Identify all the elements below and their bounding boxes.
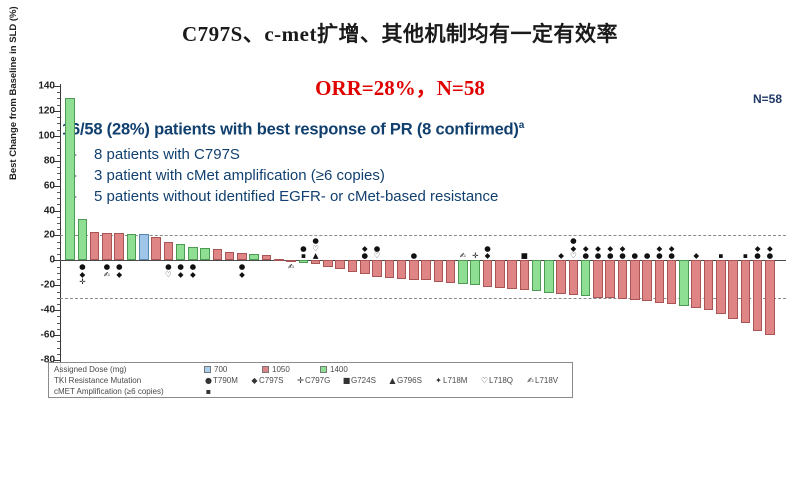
y-minor-tick (57, 242, 61, 243)
waterfall-bar (188, 247, 198, 261)
waterfall-bar (225, 252, 235, 261)
waterfall-bar (213, 249, 223, 260)
reference-line (60, 235, 786, 236)
slide-canvas: C797S、c-met扩增、其他机制均有一定有效率 ORR=28%，N=58 N… (0, 0, 800, 482)
mutation-marker-icon: ♡ (374, 252, 381, 260)
legend-glyph-icon: ◆ (250, 376, 259, 385)
legend-row: TKI Resistance Mutation●T790M◆C797S✛C797… (54, 376, 568, 387)
waterfall-bar (470, 260, 480, 285)
waterfall-bar (102, 233, 112, 260)
waterfall-bar (78, 219, 88, 260)
legend-item: ✛C797G (296, 376, 330, 385)
waterfall-bar (544, 260, 554, 292)
waterfall-bar (90, 232, 100, 261)
mutation-marker-icon: ◆ (693, 252, 699, 260)
legend-item: 700 (204, 365, 227, 374)
y-minor-tick (57, 123, 61, 124)
legend-glyph-icon: ✦ (434, 376, 443, 385)
legend-item-label: 1050 (272, 365, 290, 374)
mutation-marker-icon: ♡ (570, 252, 577, 260)
waterfall-bar (741, 260, 751, 322)
mutation-marker-icon: ▪ (718, 252, 723, 260)
legend-row-label: TKI Resistance Mutation (54, 376, 141, 385)
y-tick-label: 60 (44, 180, 55, 191)
waterfall-bar (667, 260, 677, 304)
legend-item-label: L718M (443, 376, 467, 385)
legend-item-label: 700 (214, 365, 227, 374)
waterfall-bar (434, 260, 444, 281)
y-minor-tick (57, 155, 61, 156)
y-minor-tick (57, 217, 61, 218)
waterfall-bar (765, 260, 775, 335)
legend-item: ✍L718V (526, 376, 558, 385)
y-minor-tick (57, 173, 61, 174)
waterfall-bar (372, 260, 382, 276)
mutation-marker-icon: ✍ (288, 263, 294, 271)
y-minor-tick (57, 267, 61, 268)
waterfall-bar (249, 254, 259, 260)
waterfall-bar (753, 260, 763, 331)
waterfall-bar (360, 260, 370, 274)
mutation-marker-icon: ▪ (743, 252, 748, 260)
y-minor-tick (57, 354, 61, 355)
waterfall-bar (237, 253, 247, 260)
legend-item-label: 1400 (330, 365, 348, 374)
waterfall-bar (495, 260, 505, 287)
legend-row-label: Assigned Dose (mg) (54, 365, 126, 374)
mutation-marker-icon: ● (582, 252, 589, 260)
y-tick-label: 40 (44, 205, 55, 216)
mutation-marker-icon: ● (644, 252, 651, 260)
y-minor-tick (57, 248, 61, 249)
mutation-marker-icon: ● (484, 245, 491, 253)
waterfall-bar (421, 260, 431, 280)
y-minor-tick (57, 98, 61, 99)
mutation-marker-icon: ◆ (767, 245, 773, 253)
legend-row-label: cMET Amplification (≥6 copies) (54, 387, 164, 396)
y-minor-tick (57, 329, 61, 330)
legend-item-label: T790M (213, 376, 238, 385)
waterfall-bar (679, 260, 689, 306)
waterfall-bar (262, 255, 272, 260)
mutation-marker-icon: ● (668, 252, 675, 260)
mutation-marker-icon: ◆ (571, 245, 577, 253)
waterfall-bar (655, 260, 665, 302)
y-minor-tick (57, 229, 61, 230)
y-minor-tick (57, 167, 61, 168)
waterfall-bar (520, 260, 530, 290)
y-minor-tick (57, 198, 61, 199)
mutation-marker-icon: ✛ (79, 278, 85, 286)
waterfall-bar (630, 260, 640, 300)
y-tick-label: 100 (38, 130, 55, 141)
y-minor-tick (57, 130, 61, 131)
legend-glyph-icon: ■ (342, 376, 351, 385)
mutation-marker-icon: ● (595, 252, 602, 260)
y-minor-tick (57, 92, 61, 93)
mutation-marker-icon: ◆ (607, 245, 613, 253)
legend-item-label: C797S (259, 376, 283, 385)
legend-glyph-icon: ✍ (526, 376, 535, 385)
waterfall-bar (691, 260, 701, 307)
legend-glyph-icon: ▪ (204, 387, 213, 396)
y-minor-tick (57, 304, 61, 305)
chart-legend: Assigned Dose (mg)70010501400TKI Resista… (48, 362, 573, 398)
y-minor-tick (57, 323, 61, 324)
legend-item: ✦L718M (434, 376, 467, 385)
waterfall-bar (581, 260, 591, 296)
legend-item-label: G724S (351, 376, 376, 385)
legend-glyph-icon: ● (204, 376, 213, 385)
waterfall-bar (569, 260, 579, 295)
legend-item-label: L718V (535, 376, 558, 385)
y-minor-tick (57, 223, 61, 224)
waterfall-bar (446, 260, 456, 282)
waterfall-bar (704, 260, 714, 310)
waterfall-bar (556, 260, 566, 294)
waterfall-bar (139, 234, 149, 260)
mutation-marker-icon: ● (656, 252, 663, 260)
waterfall-bar (716, 260, 726, 314)
y-tick-label: 0 (49, 255, 55, 266)
mutation-marker-icon: ● (767, 252, 774, 260)
waterfall-bar (605, 260, 615, 297)
y-tick-label: 140 (38, 81, 55, 92)
mutation-marker-icon: ◆ (755, 245, 761, 253)
y-minor-tick (57, 105, 61, 106)
waterfall-bar (323, 260, 333, 266)
y-minor-tick (57, 142, 61, 143)
mutation-marker-icon: ■ (521, 252, 528, 260)
mutation-marker-icon: ◆ (362, 245, 368, 253)
mutation-marker-icon: ● (607, 252, 614, 260)
mutation-marker-icon: ◆ (669, 245, 675, 253)
mutation-marker-icon: ▲ (313, 252, 319, 260)
legend-row: Assigned Dose (mg)70010501400 (54, 365, 568, 376)
mutation-marker-icon: ● (632, 252, 639, 260)
legend-color-swatch (320, 366, 327, 373)
mutation-marker-icon: ▪ (301, 252, 306, 260)
waterfall-bar (642, 260, 652, 301)
waterfall-bar (348, 260, 358, 271)
waterfall-bar (618, 260, 628, 299)
y-minor-tick (57, 117, 61, 118)
y-minor-tick (57, 316, 61, 317)
mutation-marker-icon: ◆ (239, 271, 245, 279)
legend-color-swatch (204, 366, 211, 373)
mutation-marker-icon: ● (312, 237, 319, 245)
mutation-marker-icon: ● (619, 252, 626, 260)
waterfall-bar (385, 260, 395, 277)
legend-item: 1400 (320, 365, 348, 374)
y-minor-tick (57, 348, 61, 349)
mutation-marker-icon: ◆ (558, 252, 564, 260)
legend-item: ▪ (204, 387, 213, 396)
y-tick-label: -20 (41, 280, 55, 291)
mutation-marker-icon: ◆ (178, 271, 184, 279)
waterfall-bar (114, 233, 124, 260)
y-minor-tick (57, 273, 61, 274)
mutation-marker-icon: ● (411, 252, 418, 260)
y-minor-tick (57, 292, 61, 293)
mutation-marker-icon: ◆ (190, 271, 196, 279)
waterfall-bar (335, 260, 345, 269)
mutation-marker-icon: ● (374, 245, 381, 253)
y-tick-label: 120 (38, 105, 55, 116)
waterfall-bar (151, 237, 161, 261)
mutation-marker-icon: ● (361, 252, 368, 260)
waterfall-bar (728, 260, 738, 319)
mutation-marker-icon: ● (300, 245, 307, 253)
plot-frame (60, 84, 786, 384)
y-minor-tick (57, 279, 61, 280)
mutation-marker-icon: ✍ (104, 271, 110, 279)
legend-item-label: C797G (305, 376, 330, 385)
legend-item: ■G724S (342, 376, 376, 385)
legend-item: 1050 (262, 365, 290, 374)
legend-item: ▲G796S (388, 376, 422, 385)
legend-glyph-icon: ▲ (388, 376, 397, 385)
waterfall-bar (65, 98, 75, 260)
y-tick-label: -40 (41, 305, 55, 316)
waterfall-bar (311, 260, 321, 264)
y-axis-label: Best Change from Baseline in SLD (%) (8, 0, 19, 180)
waterfall-plot: Best Change from Baseline in SLD (%) 140… (60, 84, 786, 384)
waterfall-bar (458, 260, 468, 284)
y-minor-tick (57, 148, 61, 149)
mutation-marker-icon: ● (570, 237, 577, 245)
y-minor-tick (57, 192, 61, 193)
waterfall-bar (274, 259, 284, 261)
waterfall-bar (409, 260, 419, 280)
y-minor-tick (57, 341, 61, 342)
mutation-marker-icon: ✛ (472, 252, 478, 260)
mutation-marker-icon: ♡ (165, 271, 172, 279)
waterfall-bar (164, 242, 174, 261)
waterfall-bar (483, 260, 493, 286)
waterfall-bar (507, 260, 517, 289)
legend-item: ●T790M (204, 376, 238, 385)
y-minor-tick (57, 254, 61, 255)
mutation-marker-icon: ♡ (312, 245, 319, 253)
mutation-marker-icon: ◆ (485, 252, 491, 260)
waterfall-bar (397, 260, 407, 279)
waterfall-bar (532, 260, 542, 291)
mutation-marker-icon: ✍ (460, 252, 466, 260)
y-tick-label: -60 (41, 330, 55, 341)
legend-row: cMET Amplification (≥6 copies)▪ (54, 387, 568, 398)
y-minor-tick (57, 179, 61, 180)
waterfall-bar (593, 260, 603, 297)
waterfall-bar (200, 248, 210, 260)
slide-title: C797S、c-met扩增、其他机制均有一定有效率 (0, 18, 800, 48)
legend-glyph-icon: ✛ (296, 376, 305, 385)
y-tick-label: 80 (44, 155, 55, 166)
legend-color-swatch (262, 366, 269, 373)
y-tick-label: 20 (44, 230, 55, 241)
legend-item: ♡L718Q (480, 376, 513, 385)
mutation-marker-icon: ◆ (595, 245, 601, 253)
waterfall-bar (299, 260, 309, 262)
mutation-marker-icon: ◆ (583, 245, 589, 253)
waterfall-bar (127, 234, 137, 260)
mutation-marker-icon: ◆ (116, 271, 122, 279)
mutation-marker-icon: ● (754, 252, 761, 260)
waterfall-bar (176, 244, 186, 260)
reference-line (60, 298, 786, 299)
y-minor-tick (57, 204, 61, 205)
legend-glyph-icon: ♡ (480, 376, 489, 385)
legend-item-label: L718Q (489, 376, 513, 385)
mutation-marker-icon: ◆ (656, 245, 662, 253)
mutation-marker-icon: ◆ (620, 245, 626, 253)
legend-item-label: G796S (397, 376, 422, 385)
legend-item: ◆C797S (250, 376, 283, 385)
